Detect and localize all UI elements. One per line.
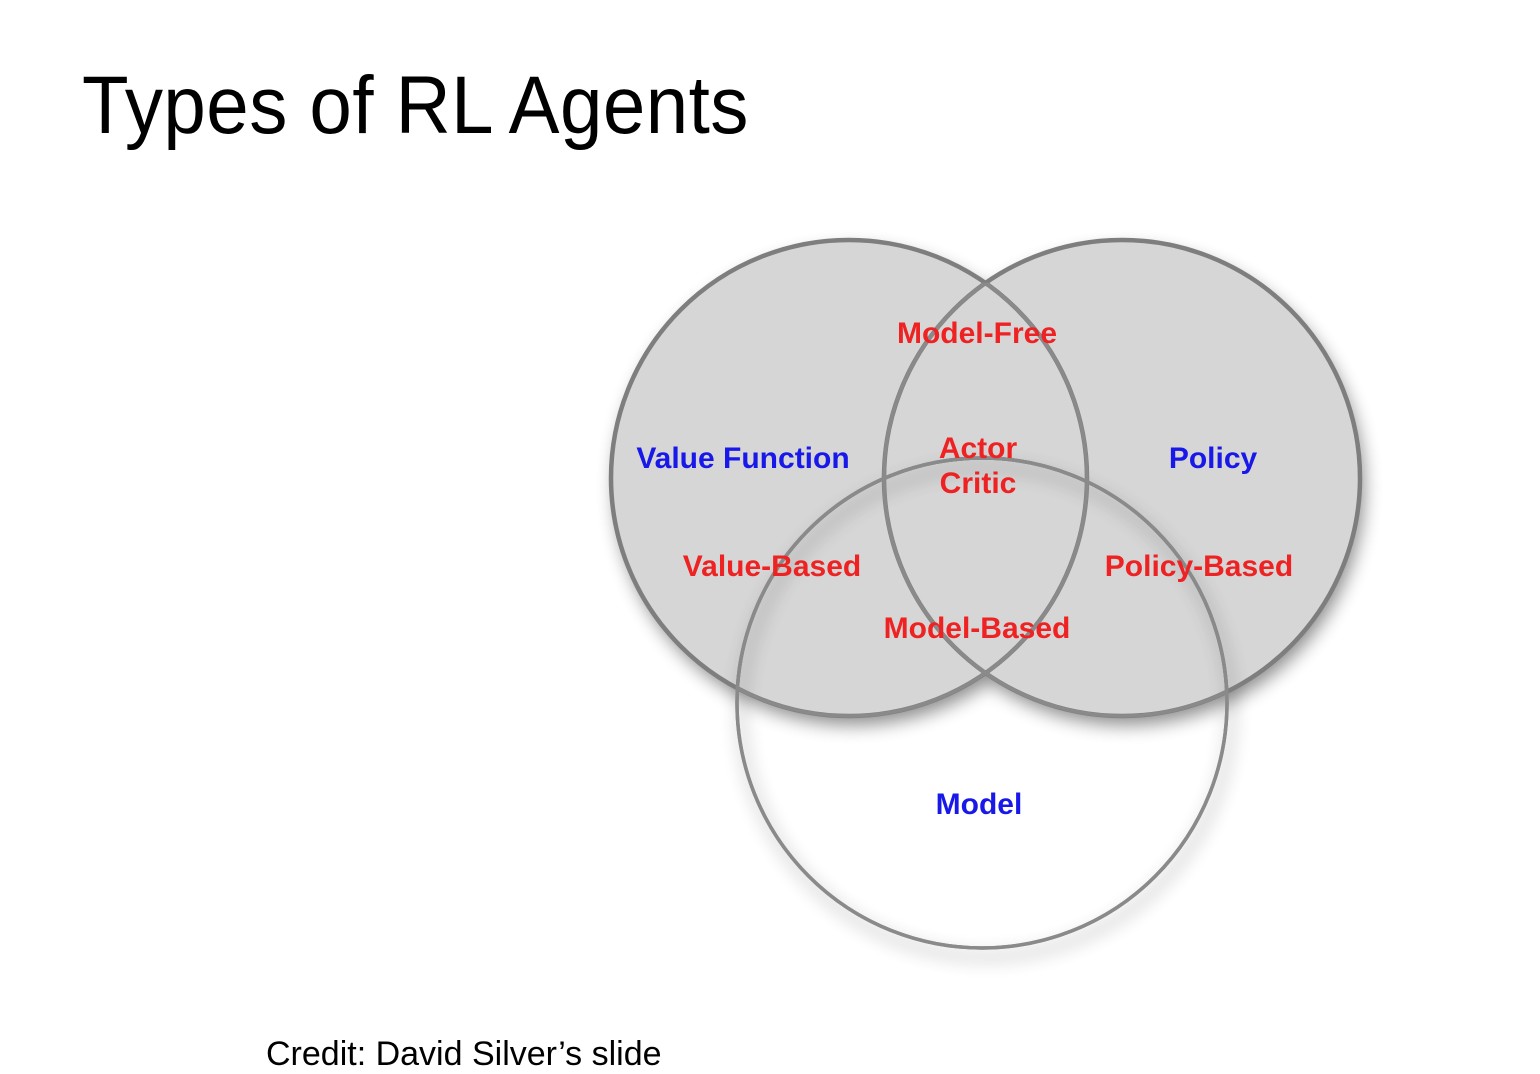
venn-arc-policy-in-model (884, 240, 1360, 716)
venn-circle-model-outline[interactable] (737, 458, 1227, 948)
venn-circle-model-outline-shadow (737, 458, 1227, 948)
venn-set-label-value-function: Value Function (636, 442, 849, 475)
venn-unshaded-set (737, 458, 1227, 948)
slide-canvas: Types of RL Agents (0, 0, 1540, 1074)
venn-circle-policy-outline[interactable] (884, 240, 1360, 716)
venn-arc-policy-in-value (884, 240, 1360, 716)
venn-shaded-sets (611, 240, 1360, 716)
venn-inner-arcs-right (611, 240, 1227, 948)
venn-set-label-model: Model (936, 788, 1023, 821)
venn-circle-model-shadowcarrier (737, 458, 1227, 948)
venn-circle-value-function-outline[interactable] (611, 240, 1087, 716)
credit-text: Credit: David Silver’s slide (266, 1034, 662, 1074)
venn-region-label-model-free: Model-Free (897, 317, 1057, 350)
venn-arc-model-in-policy (737, 458, 1227, 948)
venn-inner-arcs-bottom (611, 240, 1360, 716)
venn-diagram: Value Function Policy Model Model-Free A… (0, 0, 1540, 1074)
page-title: Types of RL Agents (82, 58, 749, 154)
venn-arc-value-in-model (611, 240, 1087, 716)
venn-arc-model-in-value (737, 458, 1227, 948)
venn-circle-value-function-fill (611, 240, 1087, 716)
venn-region-label-policy-based: Policy-Based (1105, 550, 1293, 583)
venn-region-label-critic: Critic (940, 467, 1017, 500)
venn-arc-value-in-policy (611, 240, 1087, 716)
venn-circle-policy-fill (884, 240, 1360, 716)
venn-set-label-policy: Policy (1169, 442, 1258, 475)
venn-diagram-svg: Value Function Policy Model Model-Free A… (0, 0, 1540, 1074)
